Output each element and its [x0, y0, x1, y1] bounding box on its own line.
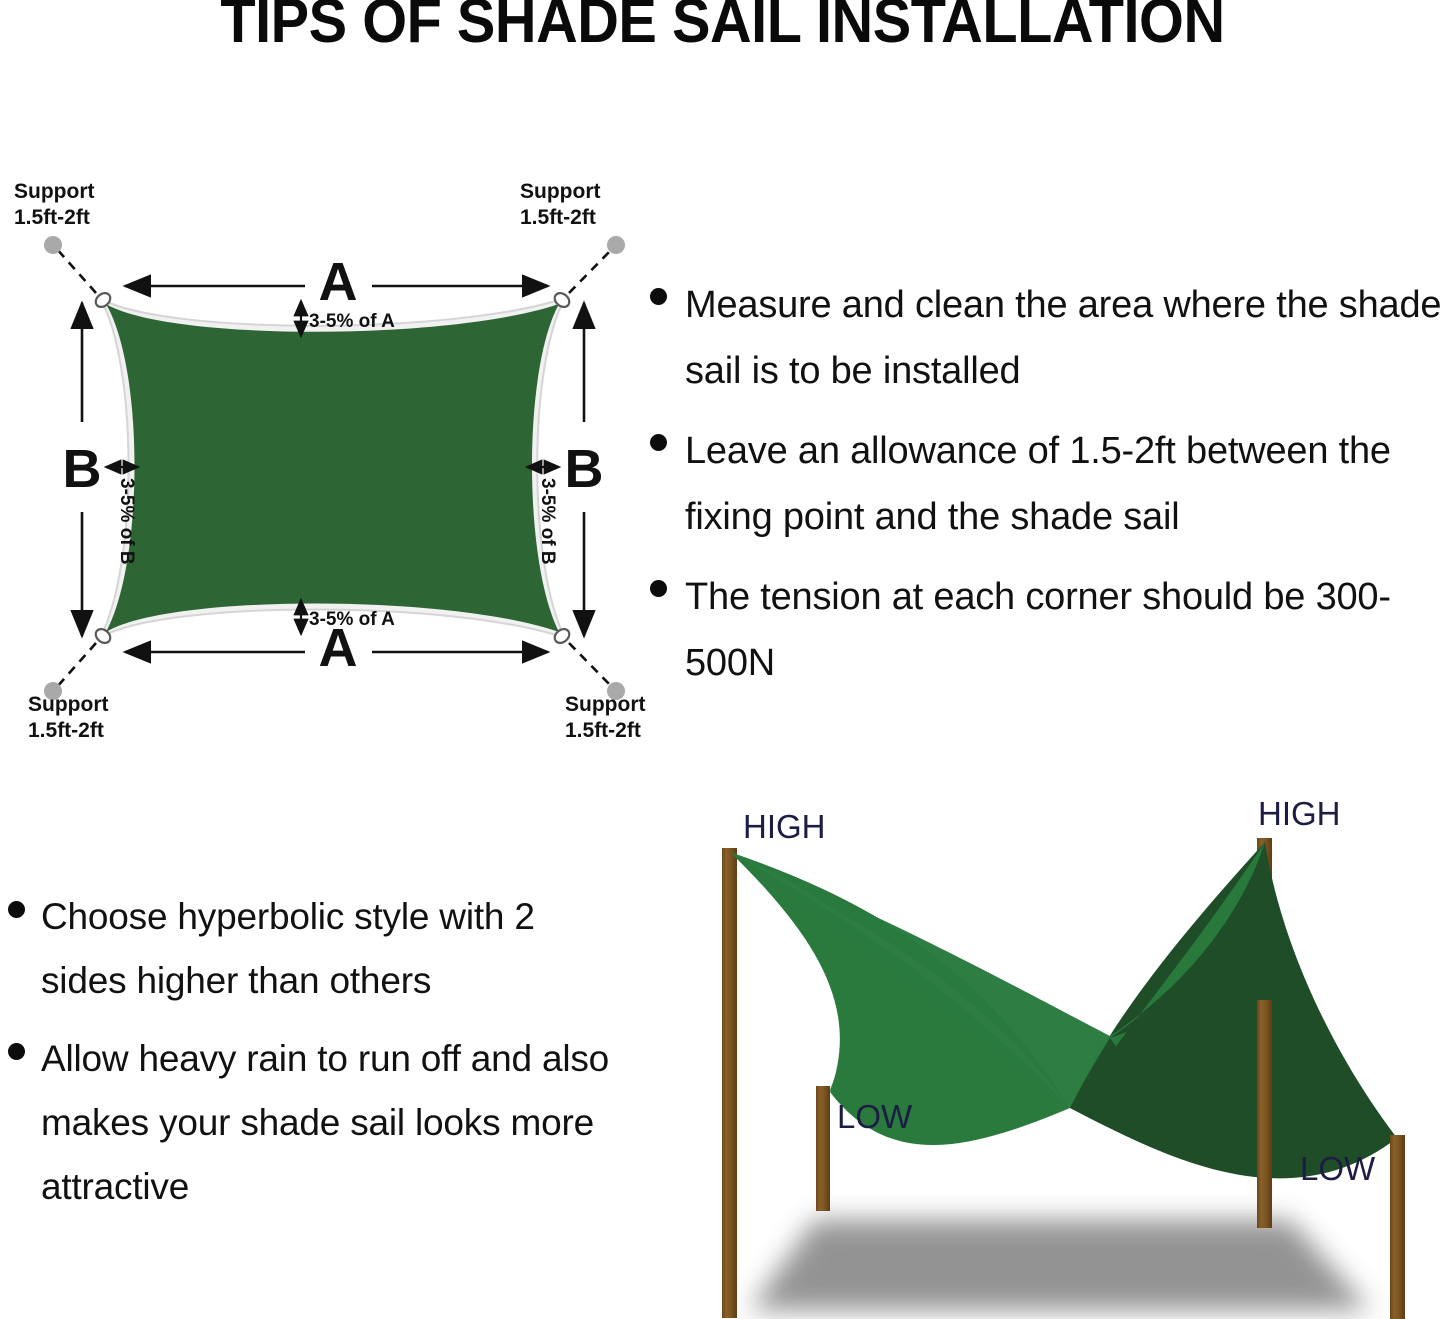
list-item: The tension at each corner should be 300… [650, 564, 1445, 696]
list-item: Leave an allowance of 1.5-2ft between th… [650, 418, 1445, 550]
bullet-dot-icon [650, 580, 667, 597]
hyperbolic-style-list: Choose hyperbolic style with 2 sides hig… [8, 885, 628, 1233]
tether-bottom-left [56, 643, 96, 688]
installation-tips-list: Measure and clean the area where the sha… [650, 272, 1445, 710]
tip-text: The tension at each corner should be 300… [685, 564, 1445, 696]
bullet-dot-icon [650, 288, 667, 305]
bullet-dot-icon [650, 434, 667, 451]
post-high-left [722, 848, 737, 1318]
label-low-far-right: LOW [1300, 1150, 1376, 1187]
dimension-label-right-B: B [565, 439, 604, 499]
post-low-far-right-front [1390, 1135, 1405, 1319]
ground-shadow [750, 1220, 1370, 1310]
bullet-dot-icon [8, 901, 25, 918]
style-text: Allow heavy rain to run off and also mak… [41, 1027, 628, 1219]
tether-bottom-right [569, 643, 613, 688]
support-dot-top-left [44, 236, 62, 254]
label-high-right: HIGH [1258, 795, 1341, 832]
curve-note-left: 3-5% of B [116, 478, 137, 565]
support-label-bottom-left-line1: Support [28, 693, 108, 716]
tether-top-right [569, 248, 613, 293]
label-high-left: HIGH [743, 808, 826, 845]
infographic-canvas: TIPS OF SHADE SAIL INSTALLATION [0, 0, 1445, 1319]
support-label-top-left-line2: 1.5ft-2ft [14, 206, 90, 229]
support-label-top-right-line1: Support [520, 180, 600, 203]
dimension-label-top-A: A [319, 252, 358, 312]
curve-note-top: 3-5% of A [309, 311, 395, 332]
curve-note-bottom: 3-5% of A [309, 609, 395, 630]
post-low-inner-left-front [816, 1086, 830, 1211]
support-label-bottom-left-line2: 1.5ft-2ft [28, 719, 104, 742]
list-item: Choose hyperbolic style with 2 sides hig… [8, 885, 628, 1013]
support-label-bottom-right-line1: Support [565, 693, 645, 716]
support-label-bottom-right-line2: 1.5ft-2ft [565, 719, 641, 742]
post-high-right-front [1257, 1000, 1272, 1228]
page-title: TIPS OF SHADE SAIL INSTALLATION [51, 0, 1395, 54]
label-low-inner: LOW [837, 1098, 913, 1135]
bullet-dot-icon [8, 1043, 25, 1060]
support-dot-top-right [607, 236, 625, 254]
rectangular-sail-diagram: A 3-5% of A A 3-5% of A B 3-5% of B B [0, 160, 680, 730]
list-item: Allow heavy rain to run off and also mak… [8, 1027, 628, 1219]
hyperbolic-sail-diagram: HIGH HIGH LOW LOW [640, 790, 1445, 1319]
tip-text: Leave an allowance of 1.5-2ft between th… [685, 418, 1445, 550]
sail-membrane-light [730, 852, 1070, 1113]
style-text: Choose hyperbolic style with 2 sides hig… [41, 885, 628, 1013]
tether-top-left [56, 248, 96, 293]
curve-note-right: 3-5% of B [537, 478, 558, 565]
support-label-top-left-line1: Support [14, 180, 94, 203]
support-label-top-right-line2: 1.5ft-2ft [520, 206, 596, 229]
shade-sail-body [106, 304, 559, 632]
list-item: Measure and clean the area where the sha… [650, 272, 1445, 404]
tip-text: Measure and clean the area where the sha… [685, 272, 1445, 404]
dimension-label-left-B: B [63, 439, 102, 499]
